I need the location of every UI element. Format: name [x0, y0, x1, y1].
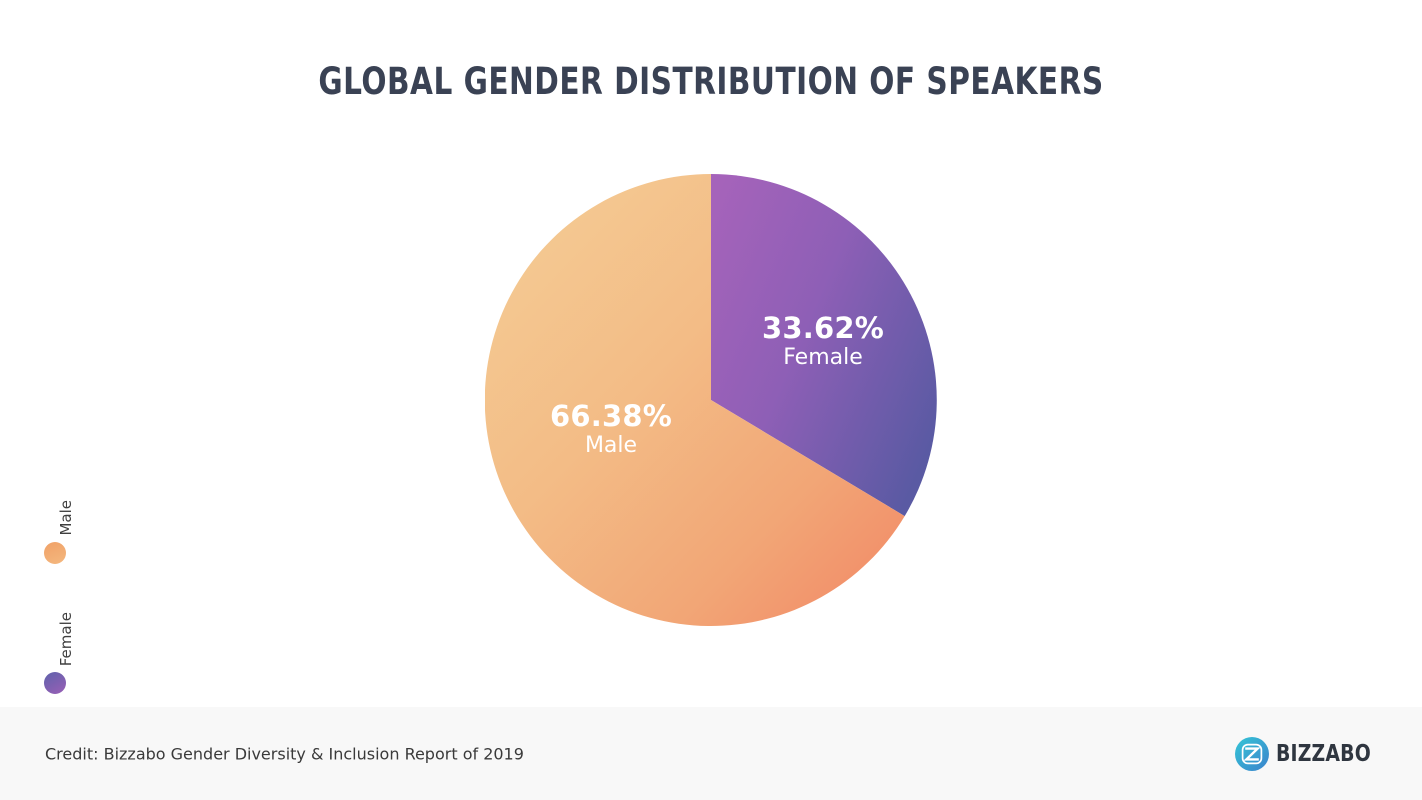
credit-text: Credit: Bizzabo Gender Diversity & Inclu…: [45, 744, 524, 763]
pie-svg: [485, 174, 937, 626]
legend-label-female: Female: [59, 612, 74, 666]
chart-plot-area: 33.62% Female 66.38% Male Male Female: [0, 0, 1422, 707]
legend-label-female-wrap: Female: [36, 580, 96, 666]
bizzabo-logo-icon: [1235, 737, 1269, 771]
legend-label-male-wrap: Male: [36, 450, 96, 536]
brand-logo[interactable]: BIZZABO: [1235, 737, 1392, 771]
legend-label-male: Male: [59, 500, 74, 536]
footer-bar: Credit: Bizzabo Gender Diversity & Inclu…: [0, 707, 1422, 800]
legend-item-female[interactable]: Female: [36, 580, 96, 710]
brand-wordmark: BIZZABO: [1276, 741, 1371, 767]
legend-swatch-female-icon: [44, 672, 66, 694]
chart-legend: Male Female: [36, 450, 96, 710]
legend-swatch-male-icon: [44, 542, 66, 564]
pie-chart: [485, 174, 937, 626]
legend-item-male[interactable]: Male: [36, 450, 96, 580]
